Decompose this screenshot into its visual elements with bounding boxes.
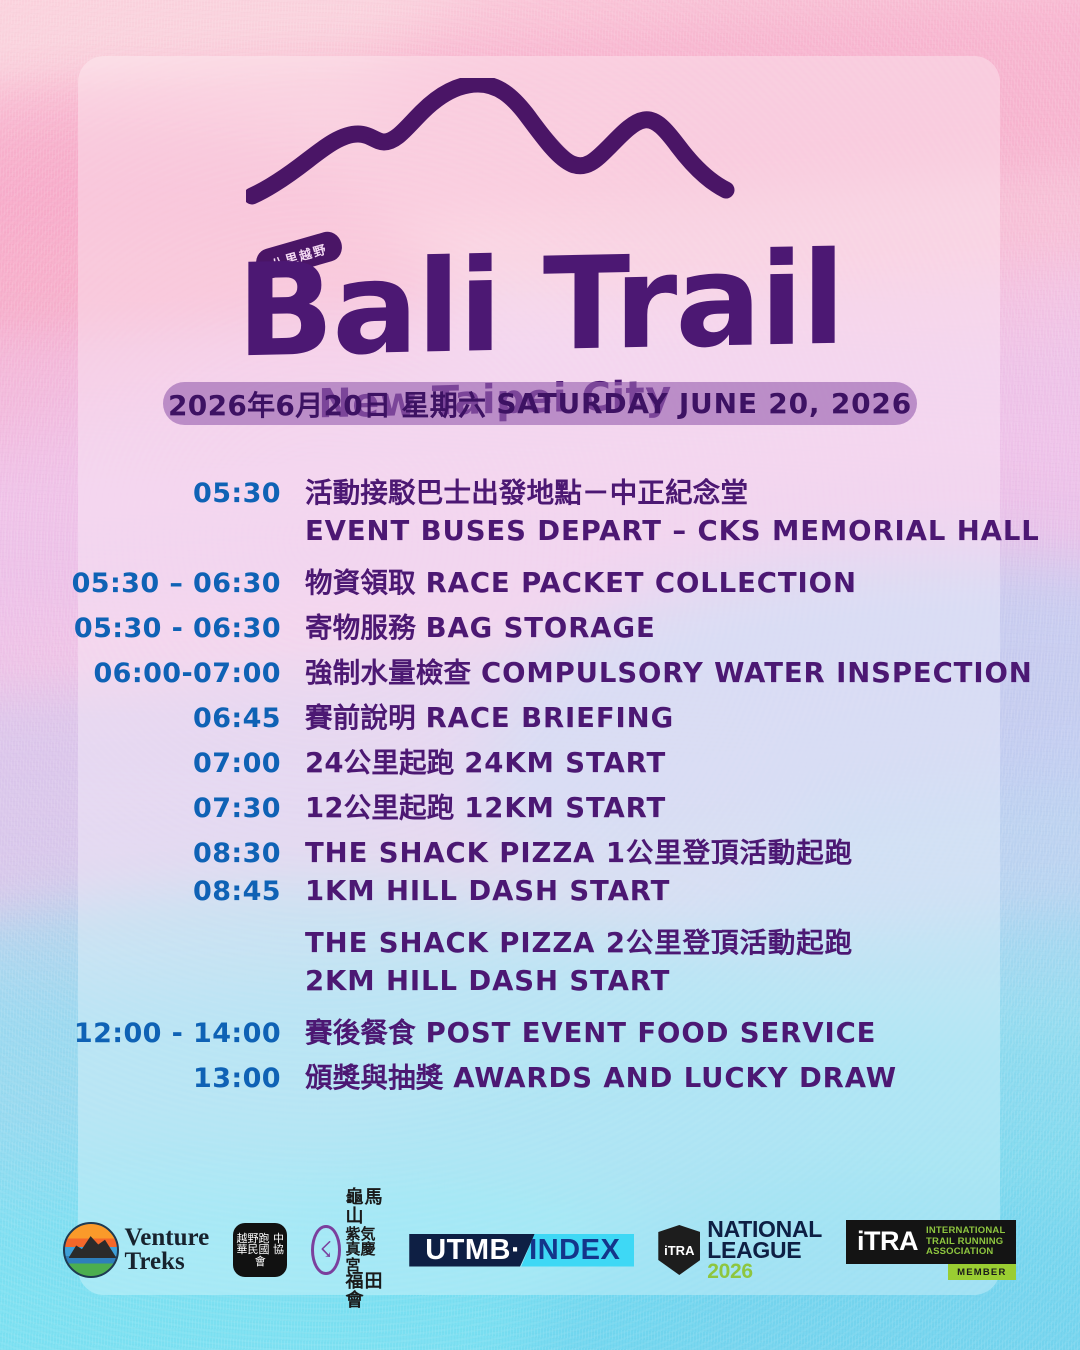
nl-year: 2026 xyxy=(707,1262,822,1281)
schedule-row-description-en: COMPULSORY WATER INSPECTION xyxy=(481,657,1033,689)
page-title: Bali Trail xyxy=(0,231,1080,382)
itra-logo-block: iTRA INTERNATIONAL TRAIL RUNNING ASSOCIA… xyxy=(846,1220,1015,1264)
schedule-row-time: 07:30 xyxy=(0,793,305,824)
guimashan-wordmark: 龜馬山 紫気真慶宮 福田會 xyxy=(346,1189,386,1311)
schedule-row-description-en: RACE BRIEFING xyxy=(426,702,674,734)
schedule-row: 07:0024公里起跑 24KM START xyxy=(0,740,1080,785)
schedule-row: 07:3012公里起跑 12KM START xyxy=(0,785,1080,830)
schedule-row-description: EVENT BUSES DEPART – CKS MEMORIAL HALL xyxy=(305,515,1080,547)
mountain-lake-circle-icon xyxy=(63,1222,119,1278)
schedule-row-description: 頒獎與抽獎 AWARDS AND LUCKY DRAW xyxy=(305,1055,1080,1095)
itra-wordmark: iTRA xyxy=(857,1226,918,1257)
sponsor-logo-bar: Venture Treks 越野跑 中華民國 協會 ☇ 龜馬山 紫気真慶宮 福田… xyxy=(78,1204,1000,1296)
schedule-row-time: 08:45 xyxy=(0,876,305,907)
sponsor-utmb-index: UTMB· INDEX xyxy=(409,1227,634,1273)
date-english: SATURDAY JUNE 20, 2026 xyxy=(496,387,912,420)
vt-line-1: Venture xyxy=(125,1226,210,1251)
itra-subtitle: INTERNATIONAL TRAIL RUNNING ASSOCIATION xyxy=(926,1226,1005,1258)
schedule-row-description: 賽後餐食 POST EVENT FOOD SERVICE xyxy=(305,1010,1080,1050)
schedule-row: 2KM HILL DASH START xyxy=(0,965,1080,1010)
schedule-row-description-cn: 24公里起跑 xyxy=(305,747,464,779)
itra-shield-icon: iTRA xyxy=(658,1225,700,1275)
gms-line-1: 龜馬山 xyxy=(346,1189,386,1226)
venture-treks-wordmark: Venture Treks xyxy=(125,1226,210,1275)
schedule-row: 05:30 – 06:30物資領取 RACE PACKET COLLECTION xyxy=(0,560,1080,605)
schedule-row-description-en: THE SHACK PIZZA 2公里登頂活動起跑 xyxy=(305,927,853,959)
schedule-row-description: 物資領取 RACE PACKET COLLECTION xyxy=(305,560,1080,600)
poster-root: 八里越野 Bali Trail New Taipei City 2026年6月2… xyxy=(0,0,1080,1350)
schedule-row-description: THE SHACK PIZZA 1公里登頂活動起跑 xyxy=(305,830,1080,870)
schedule-row-description-cn: 12公里起跑 xyxy=(305,792,464,824)
schedule-row-description-cn: 頒獎與抽獎 xyxy=(305,1062,453,1094)
schedule-row-description: 強制水量檢查 COMPULSORY WATER INSPECTION xyxy=(305,650,1080,690)
shield-label: iTRA xyxy=(664,1243,694,1258)
schedule-row: 06:00-07:00強制水量檢查 COMPULSORY WATER INSPE… xyxy=(0,650,1080,695)
schedule-row-time: 12:00 - 14:00 xyxy=(0,1018,305,1049)
sponsor-national-league: iTRA NATIONAL LEAGUE 2026 xyxy=(658,1219,822,1281)
schedule-row: 08:30THE SHACK PIZZA 1公里登頂活動起跑 xyxy=(0,830,1080,875)
gms-line-2: 紫気真慶宮 xyxy=(346,1227,386,1274)
index-wordmark: INDEX xyxy=(521,1234,634,1267)
schedule-row-description-en: AWARDS AND LUCKY DRAW xyxy=(453,1062,897,1094)
schedule-row-description-en: 1KM HILL DASH START xyxy=(305,875,670,907)
schedule-row-description: 活動接駁巴士出發地點－中正紀念堂 xyxy=(305,470,1080,510)
schedule-row-description-en: RACE PACKET COLLECTION xyxy=(426,567,857,599)
schedule-row-time: 08:30 xyxy=(0,838,305,869)
sponsor-trail-running-club: 越野跑 中華民國 協會 xyxy=(233,1223,287,1277)
sponsor-itra-member: iTRA INTERNATIONAL TRAIL RUNNING ASSOCIA… xyxy=(846,1220,1015,1280)
schedule-row-time: 05:30 – 06:30 xyxy=(0,568,305,599)
schedule-row-description-cn: 賽後餐食 xyxy=(305,1017,426,1049)
schedule-row: 05:30 - 06:30寄物服務 BAG STORAGE xyxy=(0,605,1080,650)
schedule-row-description-cn: 活動接駁巴士出發地點－中正紀念堂 xyxy=(305,477,748,509)
schedule-row-description-en: POST EVENT FOOD SERVICE xyxy=(426,1017,877,1049)
schedule-row-description-en: THE SHACK PIZZA 1公里登頂活動起跑 xyxy=(305,837,853,869)
itra-sub-1: INTERNATIONAL xyxy=(926,1226,1005,1237)
schedule-row-time: 05:30 xyxy=(0,478,305,509)
schedule-row-description-en: 2KM HILL DASH START xyxy=(305,965,670,997)
schedule-row-description: 寄物服務 BAG STORAGE xyxy=(305,605,1080,645)
national-league-wordmark: NATIONAL LEAGUE 2026 xyxy=(707,1219,822,1281)
schedule-row-description: 12公里起跑 12KM START xyxy=(305,785,1080,825)
schedule-row-description-en: BAG STORAGE xyxy=(426,612,656,644)
black-square-seal-icon: 越野跑 中華民國 協會 xyxy=(233,1223,287,1277)
schedule-row: 12:00 - 14:00賽後餐食 POST EVENT FOOD SERVIC… xyxy=(0,1010,1080,1055)
schedule-row-description-en: 24KM START xyxy=(464,747,666,779)
schedule-row-description: 24公里起跑 24KM START xyxy=(305,740,1080,780)
schedule-row-time: 13:00 xyxy=(0,1063,305,1094)
itra-member-badge: MEMBER xyxy=(948,1264,1015,1280)
schedule-row-description-en: 12KM START xyxy=(464,792,666,824)
schedule-row-description-cn: 賽前說明 xyxy=(305,702,426,734)
purple-circle-emblem-icon: ☇ xyxy=(311,1225,340,1275)
mountain-brushstroke-icon xyxy=(246,78,746,208)
schedule-row-description-cn: 強制水量檢查 xyxy=(305,657,481,689)
gms-line-3: 福田會 xyxy=(346,1273,386,1310)
schedule-row-description: 1KM HILL DASH START xyxy=(305,875,1080,907)
schedule-row-description: 賽前說明 RACE BRIEFING xyxy=(305,695,1080,735)
vt-line-2: Treks xyxy=(125,1250,210,1275)
schedule-row-description: 2KM HILL DASH START xyxy=(305,965,1080,997)
schedule-list: 05:30活動接駁巴士出發地點－中正紀念堂EVENT BUSES DEPART … xyxy=(0,470,1080,1100)
date-chinese: 2026年6月20日 星期六 xyxy=(168,384,486,424)
nl-line-2: LEAGUE xyxy=(707,1240,822,1261)
schedule-row: THE SHACK PIZZA 2公里登頂活動起跑 xyxy=(0,920,1080,965)
sponsor-guimashan: ☇ 龜馬山 紫気真慶宮 福田會 xyxy=(311,1189,385,1311)
utmb-wordmark: UTMB· xyxy=(409,1234,535,1267)
schedule-row-description: THE SHACK PIZZA 2公里登頂活動起跑 xyxy=(305,920,1080,960)
schedule-row: 06:45賽前說明 RACE BRIEFING xyxy=(0,695,1080,740)
schedule-row-time: 07:00 xyxy=(0,748,305,779)
itra-sub-3: ASSOCIATION xyxy=(926,1247,1005,1258)
schedule-row-time: 06:45 xyxy=(0,703,305,734)
sponsor-venture-treks: Venture Treks xyxy=(63,1222,210,1278)
schedule-row: 05:30活動接駁巴士出發地點－中正紀念堂 xyxy=(0,470,1080,515)
schedule-row-time: 05:30 - 06:30 xyxy=(0,613,305,644)
schedule-row: 08:451KM HILL DASH START xyxy=(0,875,1080,920)
schedule-row: EVENT BUSES DEPART – CKS MEMORIAL HALL xyxy=(0,515,1080,560)
date-banner: 2026年6月20日 星期六 SATURDAY JUNE 20, 2026 xyxy=(163,382,917,425)
schedule-row-description-cn: 寄物服務 xyxy=(305,612,426,644)
schedule-row: 13:00頒獎與抽獎 AWARDS AND LUCKY DRAW xyxy=(0,1055,1080,1100)
schedule-row-description-cn: 物資領取 xyxy=(305,567,426,599)
header-logo-block: 八里越野 Bali Trail New Taipei City xyxy=(0,64,1080,364)
schedule-row-description-en: EVENT BUSES DEPART – CKS MEMORIAL HALL xyxy=(305,515,1040,547)
schedule-row-time: 06:00-07:00 xyxy=(0,658,305,689)
